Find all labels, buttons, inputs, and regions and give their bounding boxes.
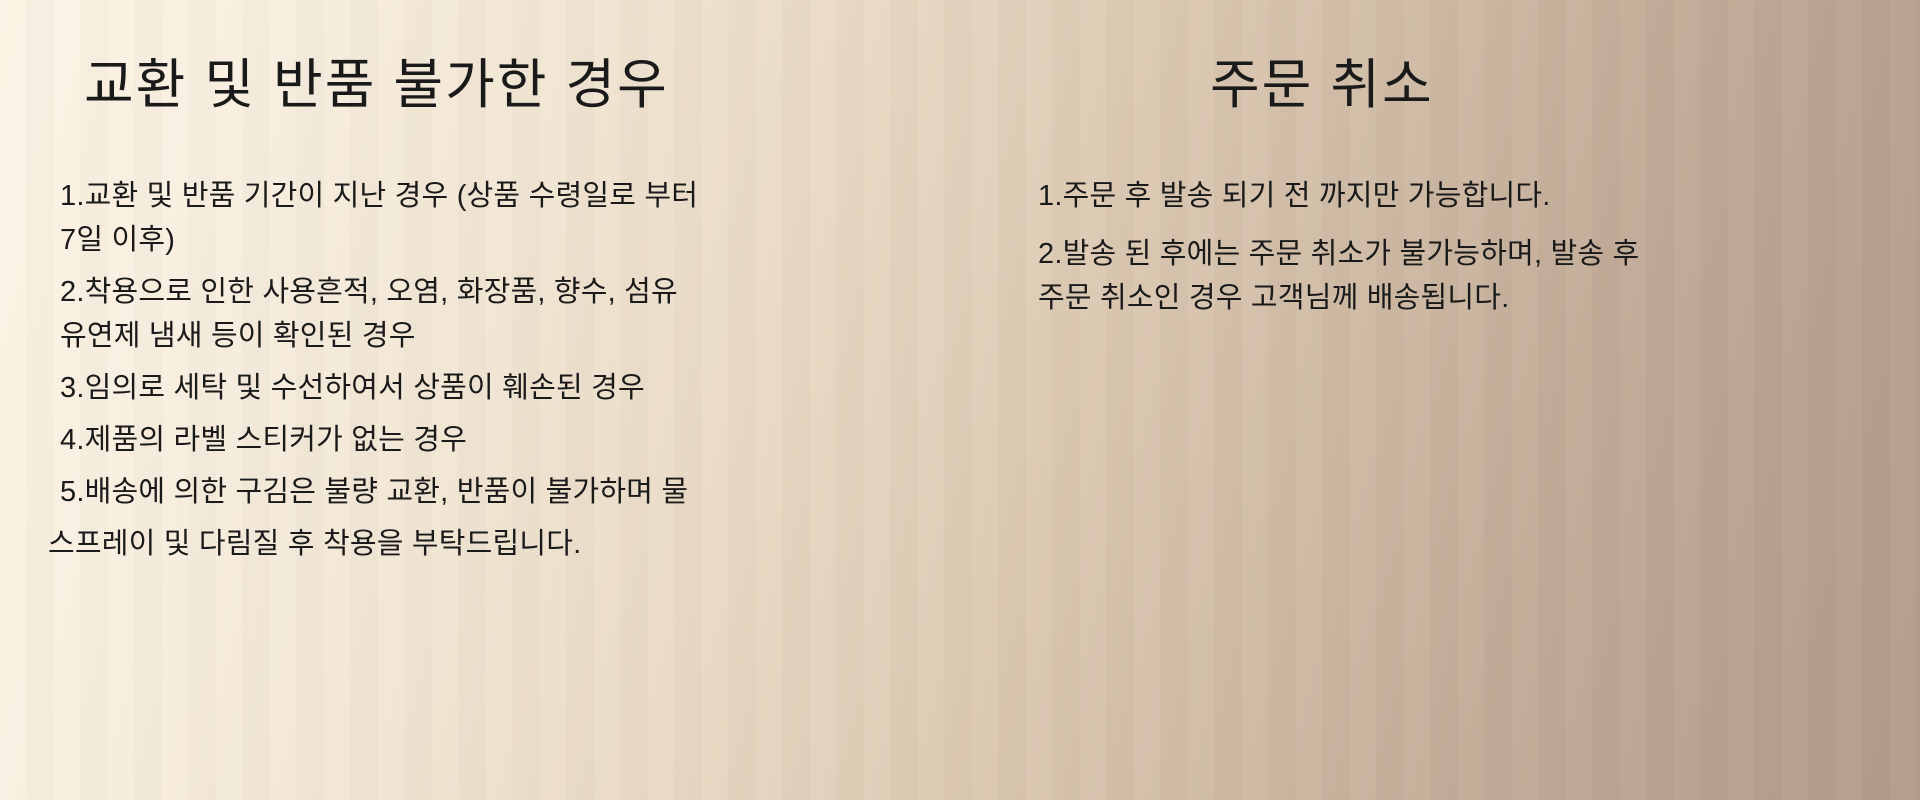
list-item: 1.주문 후 발송 되기 전 까지만 가능합니다.: [1038, 174, 1880, 218]
list-item: 4.제품의 라벨 스티커가 없는 경우: [60, 418, 920, 462]
exchange-return-denied-list: 1.교환 및 반품 기간이 지난 경우 (상품 수령일로 부터 7일 이후) 2…: [60, 174, 920, 515]
policy-columns: 교환 및 반품 불가한 경우 1.교환 및 반품 기간이 지난 경우 (상품 수…: [0, 0, 1920, 800]
exchange-return-closing-note: 스프레이 및 다림질 후 착용을 부탁드립니다.: [48, 522, 920, 566]
policy-banner: 교환 및 반품 불가한 경우 1.교환 및 반품 기간이 지난 경우 (상품 수…: [0, 0, 1920, 800]
list-item: 1.교환 및 반품 기간이 지난 경우 (상품 수령일로 부터 7일 이후): [60, 174, 920, 262]
exchange-return-denied-heading: 교환 및 반품 불가한 경우: [60, 52, 920, 120]
list-item: 3.임의로 세탁 및 수선하여서 상품이 훼손된 경우: [60, 366, 920, 410]
list-item: 2.발송 된 후에는 주문 취소가 불가능하며, 발송 후 주문 취소인 경우 …: [1038, 232, 1880, 320]
exchange-return-denied-column: 교환 및 반품 불가한 경우 1.교환 및 반품 기간이 지난 경우 (상품 수…: [0, 0, 960, 800]
order-cancellation-heading: 주문 취소: [1020, 52, 1880, 120]
list-item: 2.착용으로 인한 사용흔적, 오염, 화장품, 향수, 섬유 유연제 냄새 등…: [60, 270, 920, 358]
list-item: 5.배송에 의한 구김은 불량 교환, 반품이 불가하며 물: [60, 470, 920, 514]
order-cancellation-list: 1.주문 후 발송 되기 전 까지만 가능합니다. 2.발송 된 후에는 주문 …: [1020, 174, 1880, 320]
order-cancellation-column: 주문 취소 1.주문 후 발송 되기 전 까지만 가능합니다. 2.발송 된 후…: [960, 0, 1920, 800]
